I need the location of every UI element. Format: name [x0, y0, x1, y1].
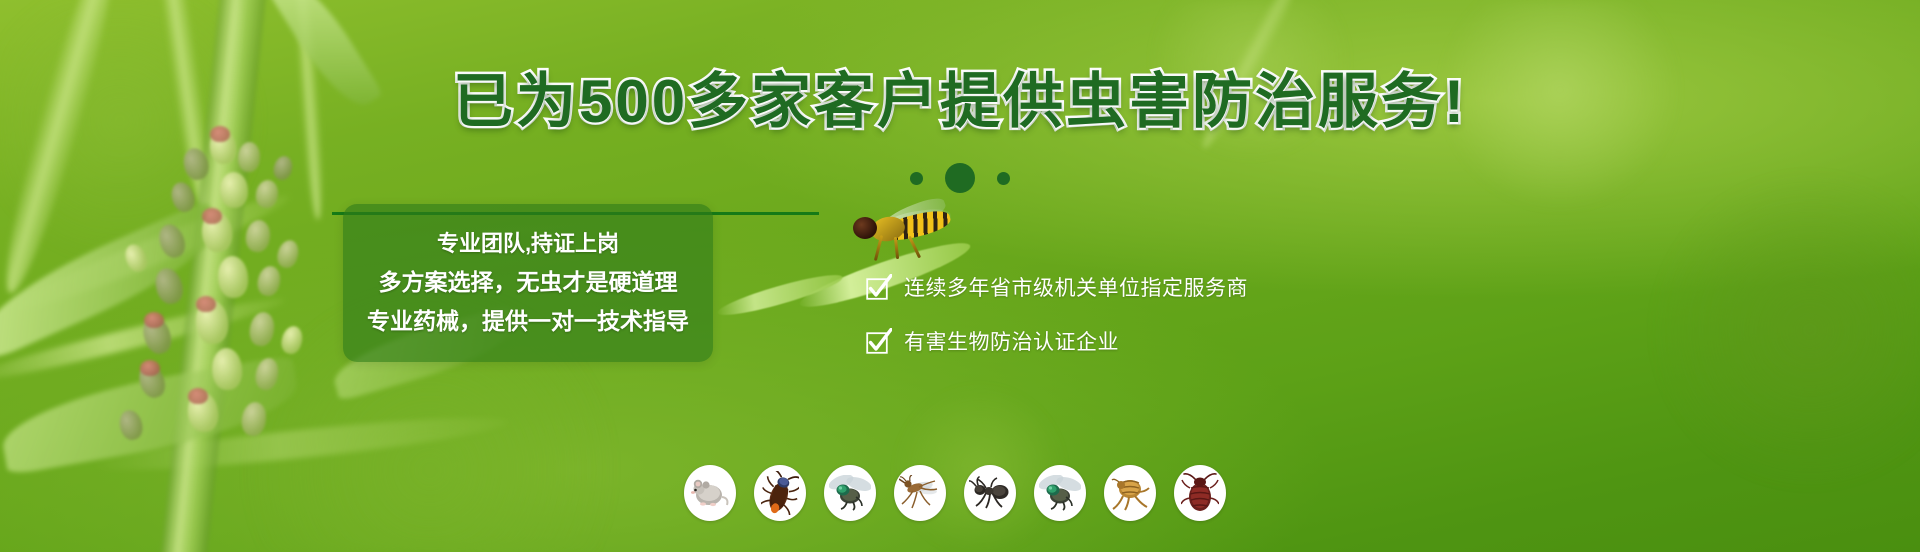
- dot-large-center-icon: [945, 163, 975, 193]
- selling-point-line-3: 专业药械，提供一对一技术指导: [367, 309, 689, 334]
- promotional-banner: 已为500多家客户提供虫害防治服务! 专业团队,持证上岗 多方案选择，无虫才是硬…: [0, 0, 1920, 552]
- pest-icon-mouse: [684, 465, 736, 521]
- pest-icon-mosquito: [894, 465, 946, 521]
- checkbox-checked-icon: [866, 328, 892, 354]
- cockroach-icon: [754, 465, 806, 521]
- decorative-dots: [0, 163, 1920, 193]
- selling-point-line-2: 多方案选择，无虫才是硬道理: [379, 270, 678, 295]
- flea-icon: [1104, 465, 1156, 521]
- bedbug-icon: [1174, 465, 1226, 521]
- banner-headline: 已为500多家客户提供虫害防治服务!: [0, 72, 1920, 132]
- dot-small-left-icon: [910, 172, 923, 185]
- ant-icon: [964, 465, 1016, 521]
- fly-icon: [824, 465, 876, 521]
- hoverfly-icon: [845, 203, 965, 258]
- blowfly-icon: [1034, 465, 1086, 521]
- pest-icon-bedbug: [1174, 465, 1226, 521]
- mosquito-icon: [894, 465, 946, 521]
- pest-icon-cockroach: [754, 465, 806, 521]
- feature-item-1-label: 有害生物防治认证企业: [904, 326, 1119, 356]
- feature-item-1: 有害生物防治认证企业: [866, 326, 1248, 356]
- feature-item-0: 连续多年省市级机关单位指定服务商: [866, 272, 1248, 302]
- pest-icon-flea: [1104, 465, 1156, 521]
- dot-small-right-icon: [997, 172, 1010, 185]
- pest-icon-row: [684, 465, 1226, 521]
- pest-icon-fly: [824, 465, 876, 521]
- selling-points-text: 专业团队,持证上岗 多方案选择，无虫才是硬道理 专业药械，提供一对一技术指导: [343, 204, 713, 362]
- mouse-icon: [684, 465, 736, 521]
- selling-point-line-1: 专业团队,持证上岗: [437, 232, 619, 256]
- pest-icon-ant: [964, 465, 1016, 521]
- feature-list: 连续多年省市级机关单位指定服务商 有害生物防治认证企业: [866, 272, 1248, 356]
- checkbox-checked-icon: [866, 274, 892, 300]
- feature-item-0-label: 连续多年省市级机关单位指定服务商: [904, 272, 1248, 302]
- pest-icon-blowfly: [1034, 465, 1086, 521]
